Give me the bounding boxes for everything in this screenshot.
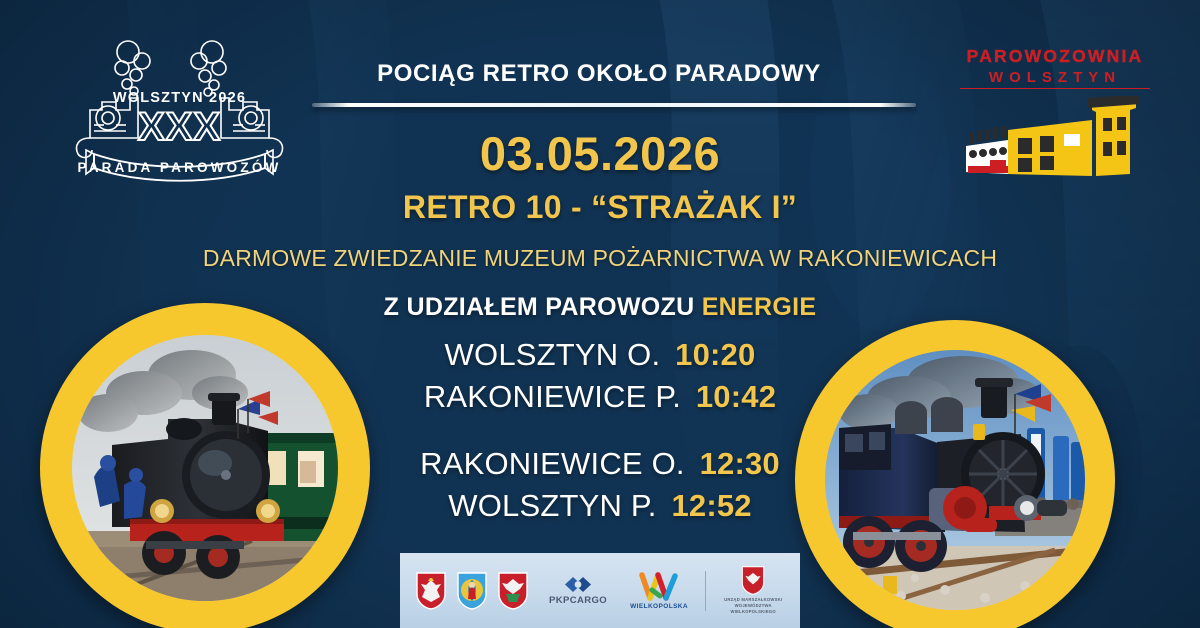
crest-rakoniewice <box>457 572 487 610</box>
wielkopolska-label: WIELKOPOLSKA <box>630 603 688 610</box>
crest-wielkopolska <box>416 572 446 610</box>
photo-right-image <box>825 350 1085 610</box>
event-note: DARMOWE ZWIEDZANIE MUZEUM POŻARNICTWA W … <box>0 245 1200 272</box>
photo-left: 3 <box>40 303 370 628</box>
locomotive-name: ENERGIE <box>702 293 817 321</box>
urzad-crest-icon <box>741 566 765 595</box>
schedule-time: 12:52 <box>671 488 751 523</box>
photo-right <box>795 320 1115 628</box>
urzad-label: URZĄD MARSZAŁKOWSKI WOJEWÓDZTWA WIELKOPO… <box>722 597 784 614</box>
schedule-station: WOLSZTYN P. <box>448 488 656 523</box>
pkp-cargo-icon <box>561 576 595 593</box>
urzad-marszalkowski-logo: URZĄD MARSZAŁKOWSKI WOJEWÓDZTWA WIELKOPO… <box>722 566 784 614</box>
parade-logo-year: WOLSZTYN 2026 <box>113 90 246 106</box>
locomotive-prefix: Z UDZIAŁEM PAROWOZU <box>384 293 695 321</box>
pkp-cargo-label: PKPCARGO <box>549 595 607 606</box>
schedule-time: 12:30 <box>700 446 780 481</box>
partner-logos-strip: PKPCARGO WIELKOPOLSKA URZĄD MARSZAŁKOWSK… <box>400 553 800 628</box>
page-title: POCIĄG RETRO OKOŁO PARADOWY <box>0 60 1199 88</box>
event-date: 03.05.2026 <box>0 126 1200 181</box>
schedule-station: RAKONIEWICE P. <box>424 379 681 414</box>
crest-wolsztyn <box>498 572 528 610</box>
photo-left-image: 3 <box>72 335 338 601</box>
schedule-station: RAKONIEWICE O. <box>420 446 685 481</box>
schedule-time: 10:42 <box>696 379 776 414</box>
schedule-station: WOLSZTYN O. <box>445 337 661 372</box>
wielkopolska-logo: WIELKOPOLSKA <box>630 572 688 610</box>
schedule-time: 10:20 <box>675 337 755 372</box>
pkp-cargo-logo: PKPCARGO <box>549 576 607 606</box>
wielkopolska-icon <box>638 572 680 602</box>
title-divider <box>312 103 916 107</box>
poster-root: WOLSZTYN 2026 XXX PARADA PAROWOZÓW PAROW… <box>0 0 1200 628</box>
event-subtitle: RETRO 10 - “STRAŻAK I” <box>0 189 1200 226</box>
